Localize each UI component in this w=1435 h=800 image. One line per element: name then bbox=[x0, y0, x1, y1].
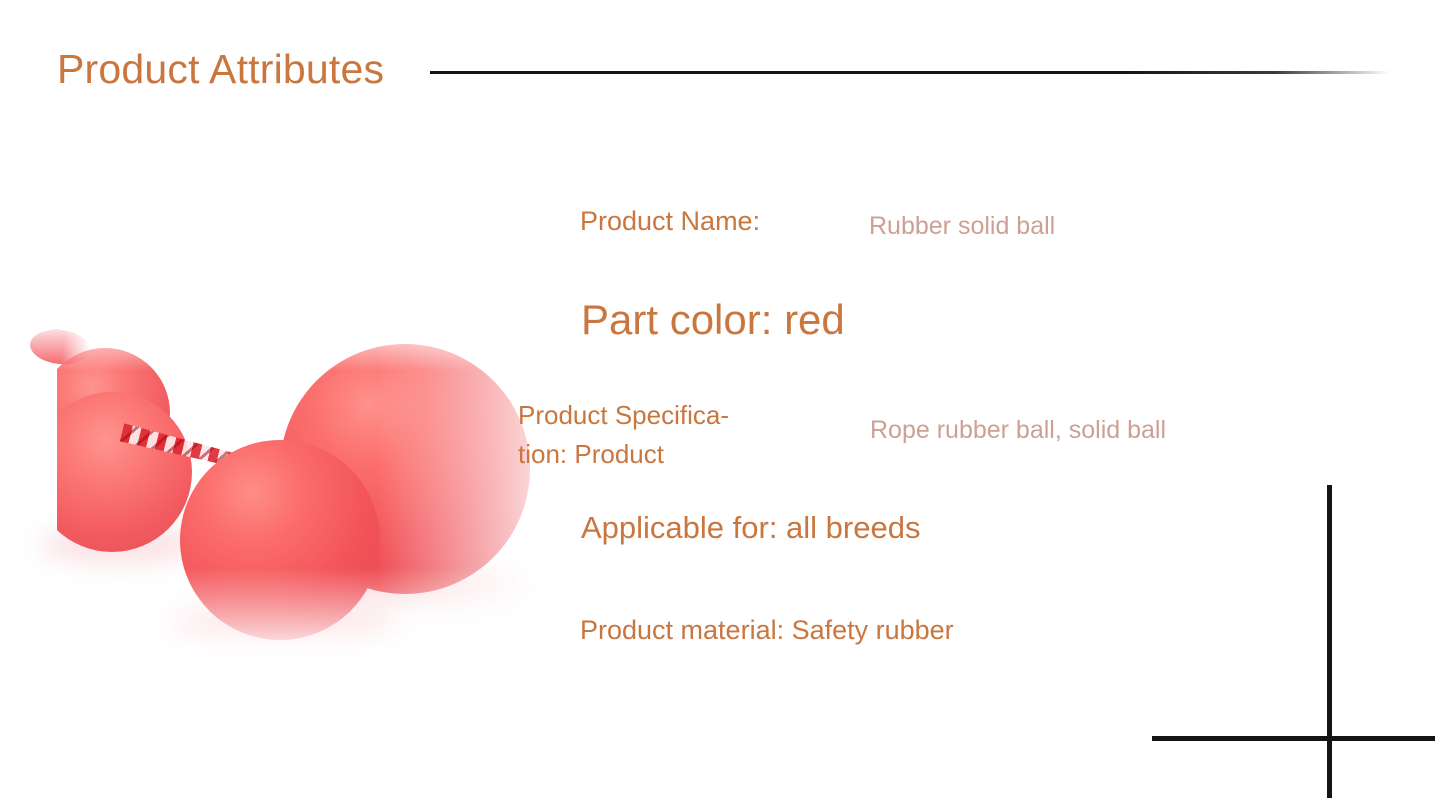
spec-label-product-specification: Product Specifica- tion: Product bbox=[518, 396, 729, 474]
spec-row-applicable-for: Applicable for: all breeds bbox=[581, 510, 920, 546]
spec-label-applicable-for: Applicable for: all breeds bbox=[581, 510, 920, 545]
spec-label-product-name: Product Name: bbox=[580, 206, 760, 236]
spec-label-product-material: Product material: Safety rubber bbox=[580, 615, 954, 645]
product-attributes-list: Product Name: Rubber solid ball Part col… bbox=[0, 0, 1435, 800]
spec-row-product-material: Product material: Safety rubber bbox=[580, 615, 954, 646]
spec-value-product-name: Rubber solid ball bbox=[869, 212, 1055, 241]
spec-value-product-specification: Rope rubber ball, solid ball bbox=[870, 416, 1166, 445]
spec-label-part-color: Part color: red bbox=[581, 296, 845, 343]
spec-label-product-specification-line1: Product Specifica- bbox=[518, 400, 729, 430]
product-attributes-slide: Product Attributes Product Name: Rubber … bbox=[0, 0, 1435, 800]
spec-label-product-specification-line2: tion: Product bbox=[518, 435, 729, 474]
spec-row-part-color: Part color: red bbox=[581, 296, 845, 344]
spec-row-product-name: Product Name: Rubber solid ball bbox=[580, 206, 760, 237]
spec-row-product-specification: Product Specifica- tion: Product Rope ru… bbox=[518, 396, 729, 474]
